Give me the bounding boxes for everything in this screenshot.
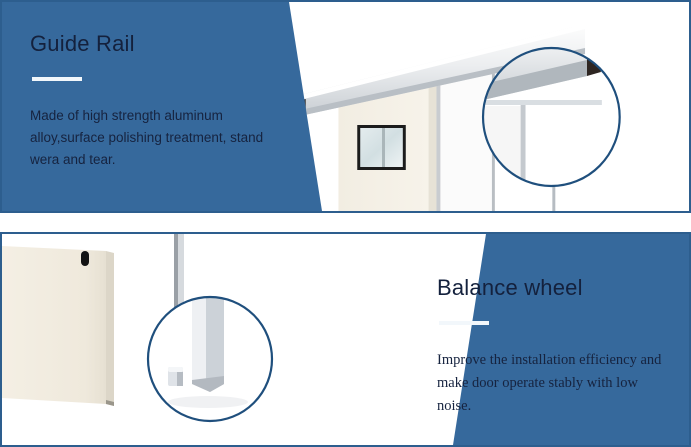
page-title-guide-rail: Guide Rail bbox=[30, 32, 292, 56]
feature-panel-guide-rail: Guide Rail Made of high strength aluminu… bbox=[0, 0, 691, 213]
door-leaf bbox=[2, 246, 114, 406]
balance-wheel-description: Improve the installation efficiency and … bbox=[437, 325, 672, 418]
balance-wheel-text: Balance wheel Improve the installation e… bbox=[437, 276, 672, 418]
floor-guide-pin bbox=[168, 367, 183, 386]
view-window bbox=[357, 125, 406, 170]
product-feature-board: Guide Rail Made of high strength aluminu… bbox=[0, 0, 691, 447]
door-handle-slot bbox=[81, 251, 89, 266]
sliding-door-balance-wheel-illustration bbox=[2, 234, 379, 445]
sliding-door-top-rail-illustration bbox=[282, 2, 689, 211]
guide-rail-text: Guide Rail Made of high strength aluminu… bbox=[30, 32, 292, 171]
page-title-balance-wheel: Balance wheel bbox=[437, 276, 672, 300]
guide-rail-description: Made of high strength aluminum alloy,sur… bbox=[30, 81, 292, 171]
feature-panel-balance-wheel: Balance wheel Improve the installation e… bbox=[0, 232, 691, 447]
